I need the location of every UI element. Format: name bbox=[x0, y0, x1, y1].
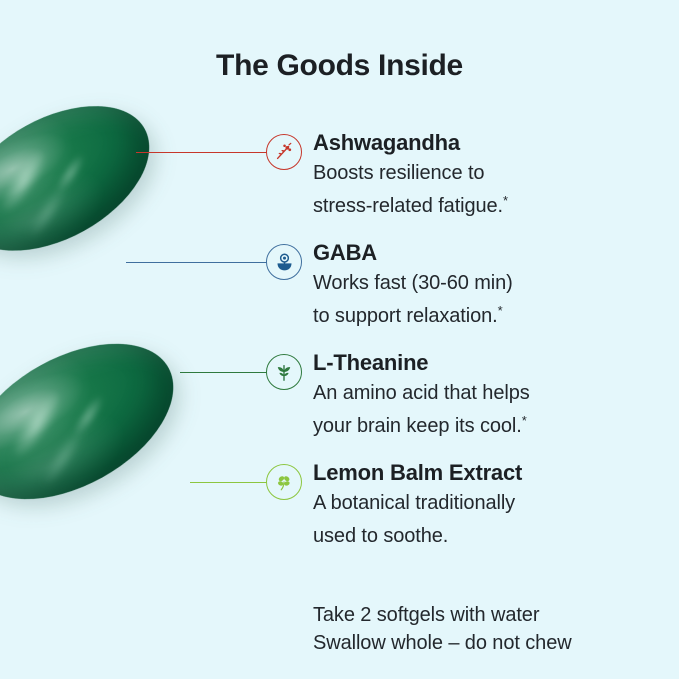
ingredient-name: Ashwagandha bbox=[313, 129, 643, 157]
ingredient-text-ashwagandha: Ashwagandha Boosts resilience to stress-… bbox=[313, 129, 643, 220]
softgel-capsule-bottom bbox=[0, 332, 225, 562]
ingredient-name: L-Theanine bbox=[313, 349, 643, 377]
lemon-balm-leaf-icon bbox=[266, 464, 302, 500]
gaba-molecule-icon bbox=[266, 244, 302, 280]
ingredient-text-lemonbalm: Lemon Balm Extract A botanical tradition… bbox=[313, 459, 643, 550]
desc-line-1: Works fast (30-60 min) bbox=[313, 272, 513, 294]
infographic-canvas: The Goods Inside bbox=[0, 0, 679, 679]
leader-line-gaba bbox=[126, 262, 268, 263]
directions-line-2: Swallow whole – do not chew bbox=[313, 629, 653, 657]
asterisk-mark: * bbox=[498, 303, 503, 318]
directions-block: Take 2 softgels with water Swallow whole… bbox=[313, 601, 653, 657]
ingredient-name: GABA bbox=[313, 239, 643, 267]
asterisk-mark: * bbox=[503, 193, 508, 208]
ingredient-text-ltheanine: L-Theanine An amino acid that helps your… bbox=[313, 349, 643, 440]
directions-line-1: Take 2 softgels with water bbox=[313, 601, 653, 629]
desc-line-2: to support relaxation. bbox=[313, 305, 498, 327]
desc-line-2: your brain keep its cool. bbox=[313, 415, 522, 437]
desc-line-1: An amino acid that helps bbox=[313, 382, 530, 404]
desc-line-2: used to soothe. bbox=[313, 525, 448, 547]
ingredient-name: Lemon Balm Extract bbox=[313, 459, 643, 487]
ingredient-description: Works fast (30-60 min) to support relaxa… bbox=[313, 269, 643, 330]
desc-line-1: Boosts resilience to bbox=[313, 162, 484, 184]
leader-line-ltheanine bbox=[180, 372, 268, 373]
leader-line-ashwagandha bbox=[136, 152, 268, 153]
ingredient-description: An amino acid that helps your brain keep… bbox=[313, 379, 643, 440]
desc-line-2: stress-related fatigue. bbox=[313, 195, 503, 217]
asterisk-mark: * bbox=[522, 413, 527, 428]
ingredient-text-gaba: GABA Works fast (30-60 min) to support r… bbox=[313, 239, 643, 330]
leader-line-lemonbalm bbox=[190, 482, 268, 483]
ashwagandha-berry-icon bbox=[266, 134, 302, 170]
tea-leaf-icon bbox=[266, 354, 302, 390]
ingredient-description: A botanical traditionally used to soothe… bbox=[313, 489, 643, 550]
softgel-capsule-top bbox=[0, 105, 194, 320]
ingredient-description: Boosts resilience to stress-related fati… bbox=[313, 159, 643, 220]
desc-line-1: A botanical traditionally bbox=[313, 492, 515, 514]
